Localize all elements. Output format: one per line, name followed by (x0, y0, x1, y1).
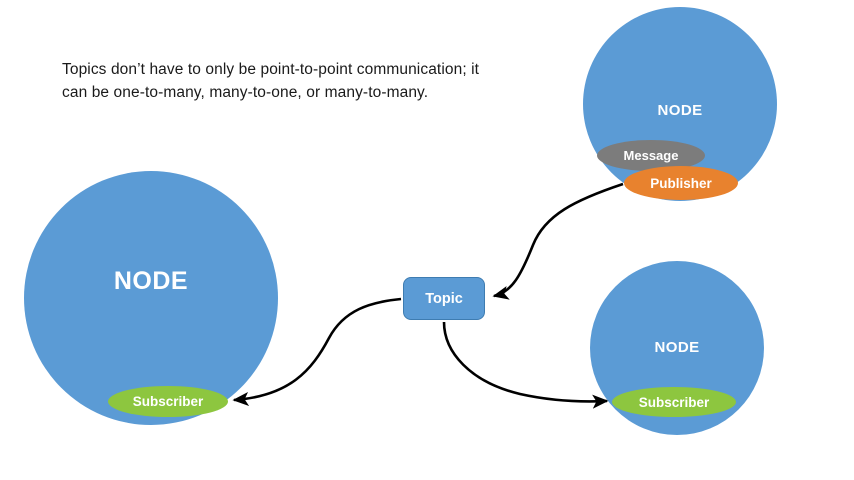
node-bottom-right-label: NODE (590, 339, 764, 356)
subscriber-ellipse-right[interactable]: Subscriber (612, 387, 736, 417)
subscriber-ellipse-left[interactable]: Subscriber (108, 386, 228, 417)
diagram-canvas: Topics don’t have to only be point-to-po… (0, 0, 854, 480)
subscriber-left-label: Subscriber (133, 394, 204, 409)
caption-text: Topics don’t have to only be point-to-po… (62, 58, 482, 105)
topic-label: Topic (425, 291, 463, 307)
topic-box[interactable]: Topic (403, 277, 485, 320)
message-label: Message (624, 148, 679, 163)
publisher-label: Publisher (650, 176, 712, 191)
publisher-ellipse[interactable]: Publisher (624, 166, 738, 200)
node-left-label: NODE (24, 267, 278, 296)
arrow-publisher-to-topic (494, 184, 623, 296)
arrow-topic-to-subscriber-right (444, 322, 607, 401)
node-top-right-label: NODE (583, 102, 777, 119)
subscriber-right-label: Subscriber (639, 395, 710, 410)
